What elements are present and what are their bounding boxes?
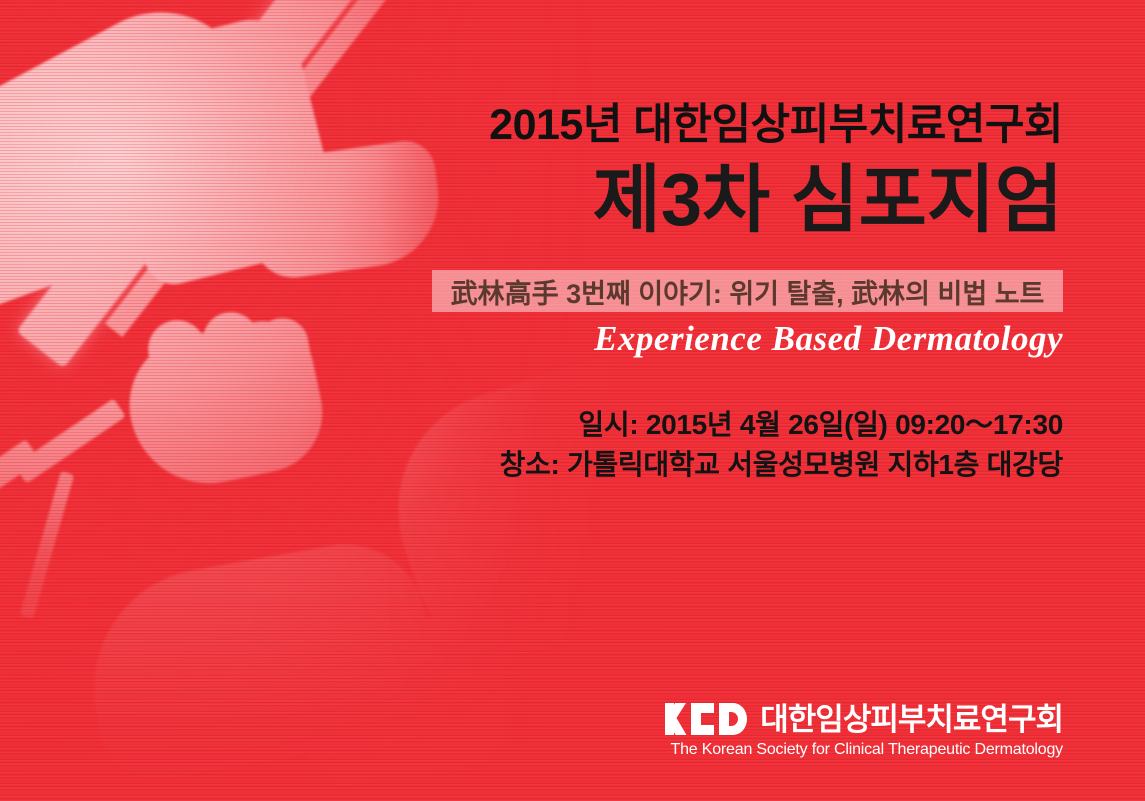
event-venue-line: 창소: 가톨릭대학교 서울성모병원 지하1층 대강당 — [500, 445, 1063, 485]
symposium-poster: 2015년 대한임상피부치료연구회 제3차 심포지엄 武林高手 3번째 이야기:… — [0, 0, 1145, 801]
event-date-line: 일시: 2015년 4월 26일(일) 09:20〜17:30 — [500, 405, 1063, 445]
english-tagline: Experience Based Dermatology — [594, 319, 1063, 359]
subtitle-band-text: 武林高手 3번째 이야기: 위기 탈출, 武林의 비법 노트 — [451, 272, 1045, 311]
poster-title-line2: 제3차 심포지엄 — [0, 163, 1063, 237]
subtitle-band: 武林高手 3번째 이야기: 위기 탈출, 武林의 비법 노트 — [432, 270, 1063, 312]
logo-primary-row: 대한임상피부치료연구회 — [665, 703, 1063, 735]
poster-content: 2015년 대한임상피부치료연구회 제3차 심포지엄 武林高手 3번째 이야기:… — [0, 0, 1145, 801]
kcd-logo-icon — [665, 703, 747, 735]
event-info-block: 일시: 2015년 4월 26일(일) 09:20〜17:30 창소: 가톨릭대… — [500, 405, 1063, 485]
poster-title-line1: 2015년 대한임상피부치료연구회 — [0, 104, 1063, 147]
logo-korean-name: 대한임상피부치료연구회 — [760, 704, 1063, 735]
logo-english-name: The Korean Society for Clinical Therapeu… — [671, 742, 1063, 758]
kcd-logo-lockup: 대한임상피부치료연구회 The Korean Society for Clini… — [665, 703, 1063, 758]
